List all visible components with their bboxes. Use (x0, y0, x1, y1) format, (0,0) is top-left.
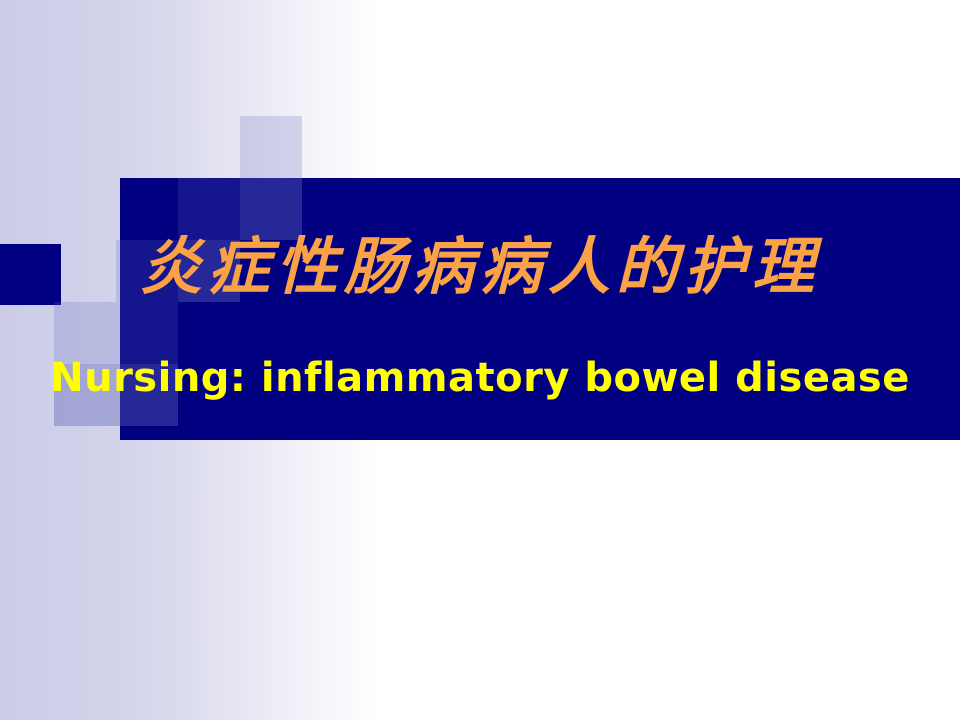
slide-title-chinese: 炎症性肠病病人的护理 (0, 236, 960, 298)
title-slide: 炎症性肠病病人的护理 Nursing: inflammatory bowel d… (0, 0, 960, 720)
decor-square-r1-c4 (240, 116, 302, 178)
slide-subtitle-english: Nursing: inflammatory bowel disease (0, 358, 960, 398)
